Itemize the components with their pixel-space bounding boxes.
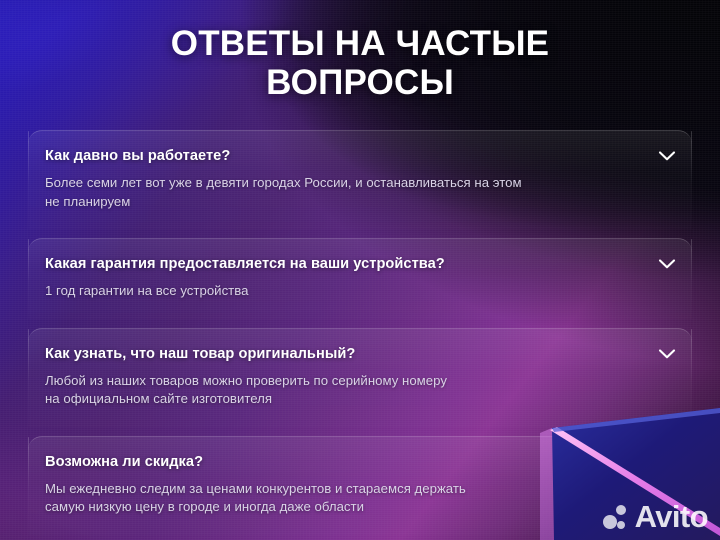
faq-question[interactable]: Возможна ли скидка?: [45, 453, 634, 472]
faq-answer: Более семи лет вот уже в девяти городах …: [45, 174, 634, 211]
faq-question[interactable]: Как узнать, что наш товар оригинальный?: [45, 345, 634, 364]
faq-item[interactable]: Возможна ли скидка? Мы ежедневно следим …: [28, 436, 692, 535]
avito-wordmark: Avito: [635, 501, 708, 532]
page-title: ОТВЕТЫ НА ЧАСТЫЕ ВОПРОСЫ: [0, 24, 720, 102]
faq-question[interactable]: Как давно вы работаете?: [45, 147, 634, 166]
chevron-down-icon[interactable]: [656, 454, 678, 470]
avito-watermark: Avito: [603, 501, 708, 532]
faq-accordion-list: Как давно вы работаете? Более семи лет в…: [28, 130, 692, 535]
faq-question[interactable]: Какая гарантия предоставляется на ваши у…: [45, 255, 634, 274]
avito-dots-logo-icon: [603, 504, 630, 529]
faq-item[interactable]: Какая гарантия предоставляется на ваши у…: [28, 238, 692, 319]
faq-answer: Любой из наших товаров можно проверить п…: [45, 372, 634, 409]
chevron-down-icon[interactable]: [656, 346, 678, 362]
faq-item[interactable]: Как узнать, что наш товар оригинальный? …: [28, 328, 692, 427]
chevron-down-icon[interactable]: [656, 148, 678, 164]
faq-answer: Мы ежедневно следим за ценами конкуренто…: [45, 480, 634, 517]
faq-item[interactable]: Как давно вы работаете? Более семи лет в…: [28, 130, 692, 229]
faq-page: ОТВЕТЫ НА ЧАСТЫЕ ВОПРОСЫ Как давно вы ра…: [0, 0, 720, 540]
chevron-down-icon[interactable]: [656, 256, 678, 272]
faq-answer: 1 год гарантии на все устройства: [45, 282, 634, 301]
